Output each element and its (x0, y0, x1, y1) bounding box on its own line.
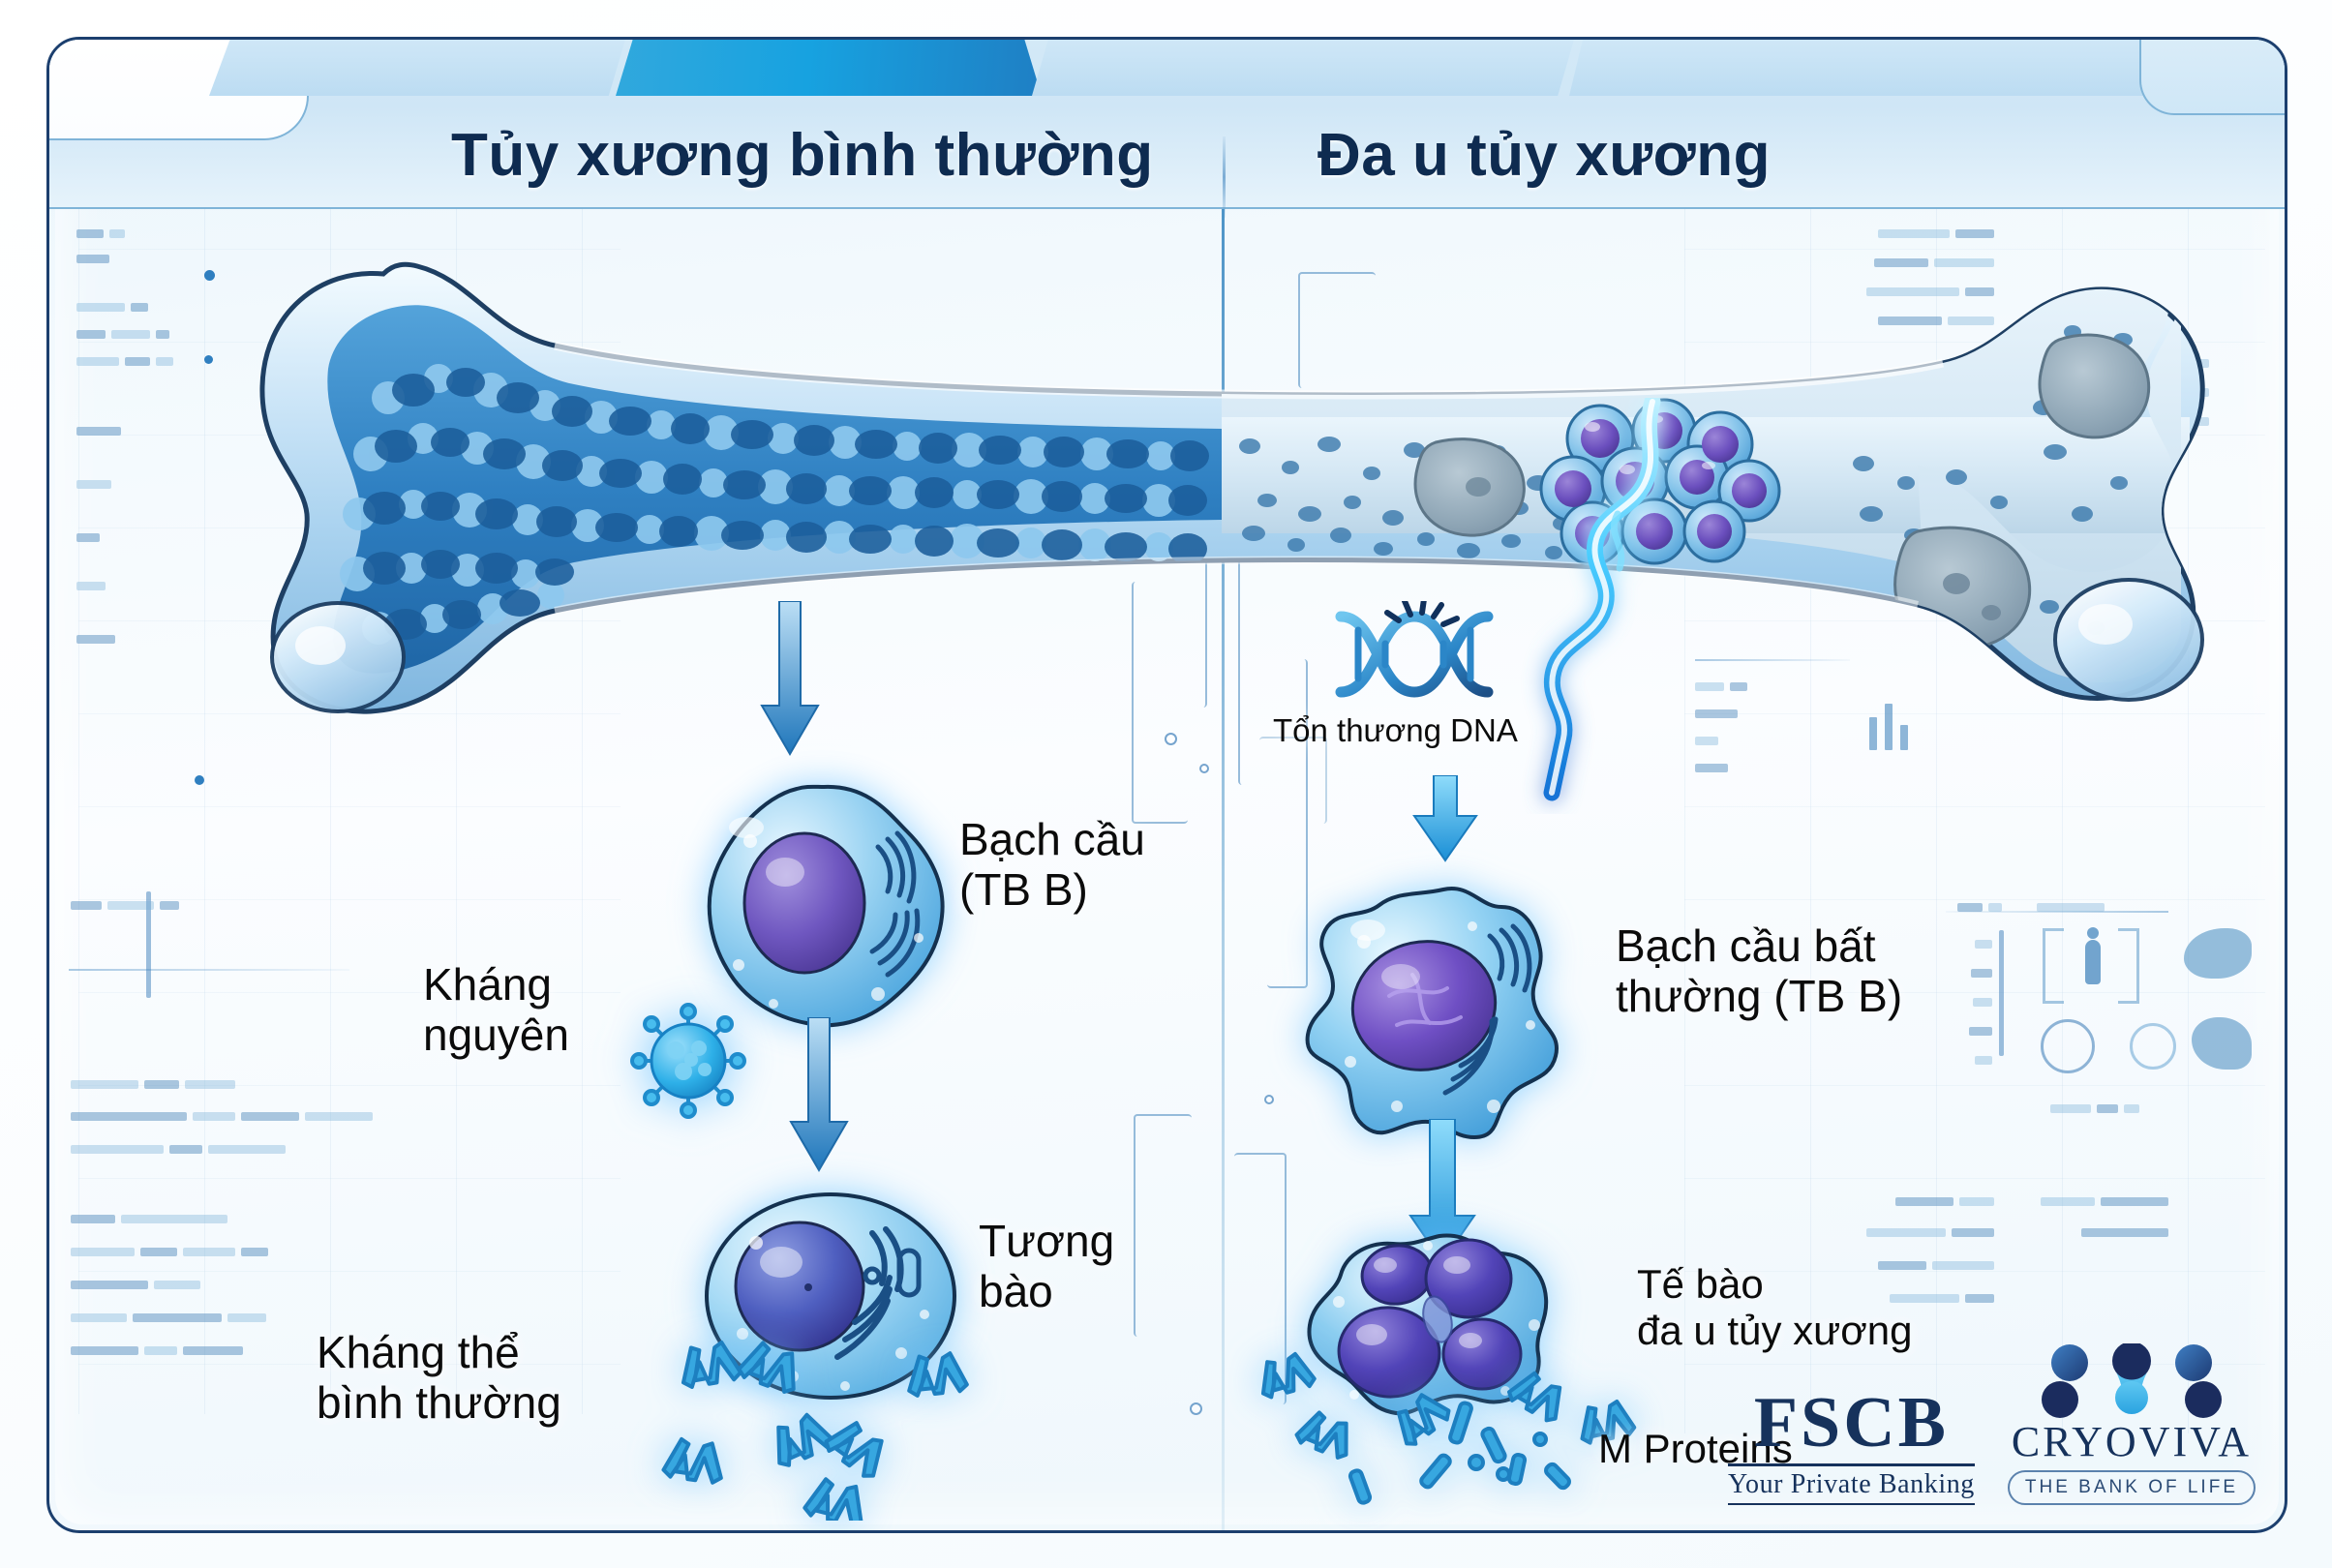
header-tab-left (209, 40, 625, 96)
abnormal-b-cell-illustration (1300, 882, 1581, 1143)
logo-group: FSCB Your Private Banking (1728, 1343, 2256, 1505)
arrow-bcell-to-plasma (785, 1017, 853, 1172)
fscb-tagline: Your Private Banking (1728, 1469, 1975, 1500)
header-band (49, 40, 2285, 209)
fscb-rule-top (1728, 1463, 1975, 1466)
panel-title-normal: Tủy xương bình thường (451, 121, 1154, 190)
cryoviva-dots-icon (2041, 1343, 2223, 1419)
arrow-bolt-to-abnormal-cell (1408, 775, 1484, 862)
cell-glyph-icon (2130, 1023, 2176, 1070)
label-b-cell: Bạch cầu (TB B) (959, 814, 1145, 916)
cryoviva-logo: CRYOVIVA THE BANK OF LIFE (2008, 1343, 2256, 1505)
label-normal-antibody: Kháng thể bình thường (317, 1327, 561, 1429)
arrow-bone-to-bcell (756, 601, 824, 756)
lightning-bolt-icon (1472, 398, 1724, 814)
panel-title-myeloma: Đa u tủy xương (1317, 121, 1771, 190)
fscb-logo: FSCB Your Private Banking (1728, 1387, 1975, 1505)
cell-glyph-icon (2041, 1019, 2095, 1073)
m-proteins-illustration (1250, 1346, 1656, 1521)
fscb-name: FSCB (1728, 1387, 1975, 1459)
header-tab-accent (616, 40, 1042, 96)
fscb-rule-bottom (1728, 1503, 1975, 1505)
antigen-virus-icon (625, 998, 751, 1124)
cryoviva-tagline: THE BANK OF LIFE (2008, 1470, 2256, 1505)
bone-cross-section-illustration (214, 224, 2227, 727)
label-abnormal-b-cell: Bạch cầu bất thường (TB B) (1616, 920, 1902, 1022)
label-myeloma-cell: Tế bào đa u tủy xương (1637, 1261, 1912, 1354)
normal-antibodies-illustration (659, 1327, 979, 1521)
label-plasma-cell: Tương bào (979, 1216, 1114, 1317)
organ-glyph-icon (2192, 1017, 2252, 1070)
poster-frame: Tủy xương bình thường Đa u tủy xương (46, 37, 2287, 1533)
label-antigen: Kháng nguyên (423, 959, 569, 1061)
patient-figure-icon (2085, 940, 2101, 984)
infographic-canvas: Tủy xương bình thường Đa u tủy xương (0, 0, 2332, 1568)
organ-glyph-icon (2184, 928, 2252, 979)
header-right-notch (2139, 40, 2285, 115)
header-title-divider (1223, 136, 1226, 218)
cryoviva-name: CRYOVIVA (2008, 1421, 2256, 1463)
header-tab-right (1032, 40, 1574, 96)
